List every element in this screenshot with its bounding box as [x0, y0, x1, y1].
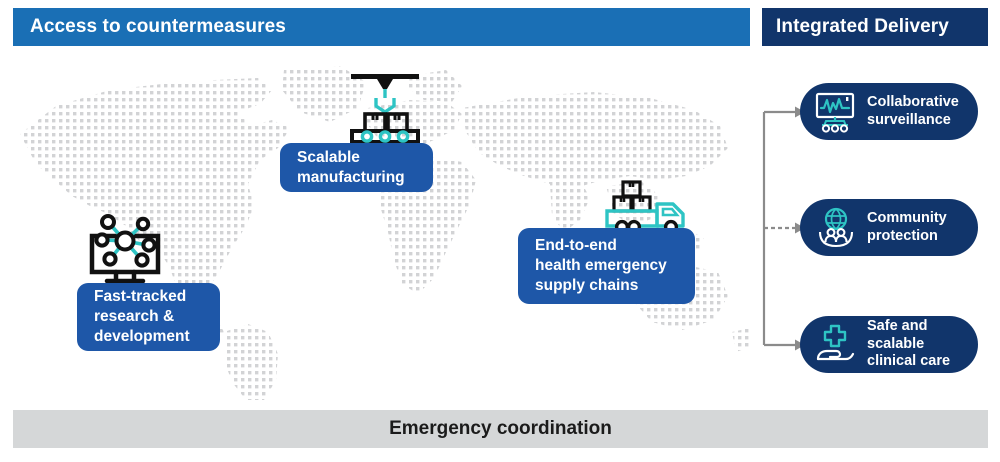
medical-cross-hand-icon: [812, 323, 858, 367]
heartbeat-monitor-icon: [812, 90, 858, 134]
card-label: Scalable manufacturing: [297, 148, 405, 188]
footer-emergency-coordination: Emergency coordination: [13, 410, 988, 448]
card-label-line: Fast-tracked: [94, 287, 190, 307]
card-label: End-to-end health emergency supply chain…: [535, 236, 667, 295]
card-label: Fast-tracked research & development: [94, 287, 190, 346]
card-label-line: development: [94, 327, 190, 347]
card-label-line: health emergency: [535, 256, 667, 276]
card-label-line: manufacturing: [297, 168, 405, 188]
conveyor-belt-icon: [343, 70, 427, 148]
header-left-title: Access to countermeasures: [30, 16, 286, 38]
pill-label-line: Safe and: [867, 318, 950, 336]
pill-label-line: Collaborative: [867, 94, 959, 112]
pill-label-line: protection: [867, 228, 947, 246]
card-label-line: End-to-end: [535, 236, 667, 256]
pill-label-line: Community: [867, 210, 947, 228]
card-supply-chains[interactable]: End-to-end health emergency supply chain…: [518, 228, 695, 304]
card-label-line: research &: [94, 307, 190, 327]
pill-safe-scalable-clinical-care[interactable]: Safe and scalable clinical care: [800, 316, 978, 373]
globe-in-hands-icon: [812, 206, 858, 250]
monitor-network-icon: [85, 214, 165, 286]
pill-collaborative-surveillance[interactable]: Collaborative surveillance: [800, 83, 978, 140]
footer-label: Emergency coordination: [389, 418, 612, 440]
diagram-canvas: Access to countermeasures Integrated Del…: [0, 0, 1000, 462]
pill-label: Safe and scalable clinical care: [867, 318, 950, 371]
header-access-to-countermeasures: Access to countermeasures: [13, 8, 750, 46]
pill-label-line: surveillance: [867, 112, 959, 130]
card-fast-tracked-research[interactable]: Fast-tracked research & development: [77, 283, 220, 351]
header-right-title: Integrated Delivery: [776, 16, 949, 38]
pill-label: Collaborative surveillance: [867, 94, 959, 129]
pill-label-line: scalable: [867, 336, 950, 354]
card-label-line: Scalable: [297, 148, 405, 168]
pill-label-line: clinical care: [867, 353, 950, 371]
pill-label: Community protection: [867, 210, 947, 245]
card-scalable-manufacturing[interactable]: Scalable manufacturing: [280, 143, 433, 192]
card-label-line: supply chains: [535, 276, 667, 296]
header-integrated-delivery: Integrated Delivery: [762, 8, 988, 46]
pill-community-protection[interactable]: Community protection: [800, 199, 978, 256]
